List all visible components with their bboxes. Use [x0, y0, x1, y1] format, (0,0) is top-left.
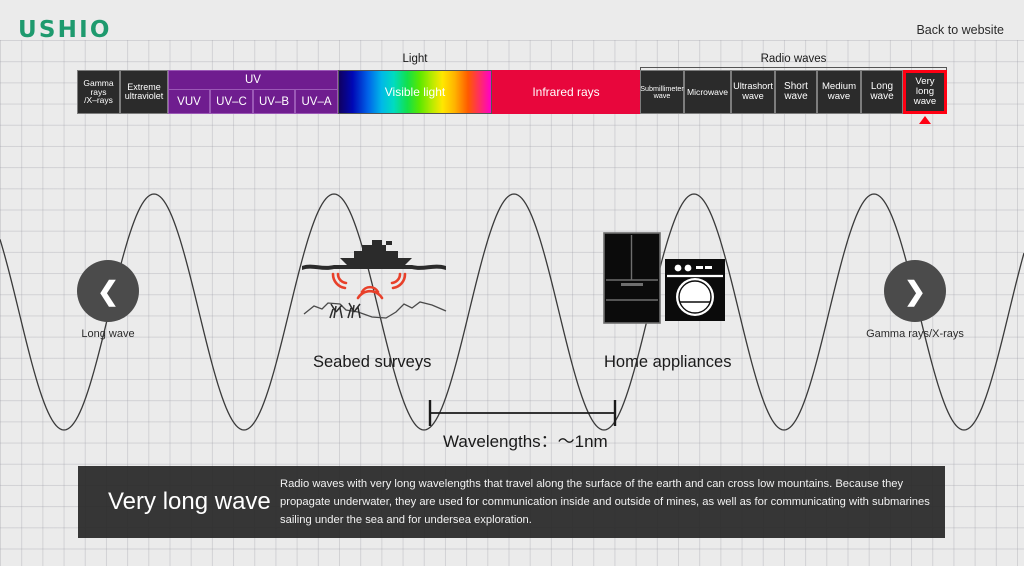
band-extreme-ultraviolet[interactable]: Extremeultraviolet: [120, 70, 168, 114]
band-short-wave[interactable]: Shortwave: [775, 70, 817, 114]
home-appliances-label: Home appliances: [604, 353, 732, 372]
band-long-wave[interactable]: Longwave: [861, 70, 903, 114]
description-panel: Very long wave Radio waves with very lon…: [78, 466, 945, 538]
page-header: USHIO Back to website: [0, 0, 1024, 40]
prev-band-label: Long wave: [47, 328, 169, 340]
chevron-right-icon: ❯: [904, 276, 926, 307]
back-to-website-link[interactable]: Back to website: [916, 23, 1004, 37]
description-body: Radio waves with very long wavelengths t…: [272, 475, 931, 529]
spectrum-bar: Light Radio waves Gammarays/X–rays Extre…: [0, 50, 1024, 122]
band-visible-light[interactable]: Visible light: [338, 70, 492, 114]
description-title: Very long wave: [92, 488, 272, 516]
band-medium-wave[interactable]: Mediumwave: [817, 70, 861, 114]
next-band-button[interactable]: ❯: [884, 260, 946, 322]
band-uv-c[interactable]: UV–C: [210, 89, 253, 114]
band-uv-group[interactable]: UV: [168, 70, 338, 89]
seabed-survey-label: Seabed surveys: [313, 353, 431, 372]
group-label-radio-waves: Radio waves: [640, 53, 947, 65]
band-very-long-wave[interactable]: Verylongwave: [903, 70, 947, 114]
selected-band-marker: [919, 116, 931, 124]
spectrum-band-row: Gammarays/X–rays Extremeultraviolet UV V…: [0, 70, 1024, 114]
ushio-logo: USHIO: [18, 17, 112, 43]
band-gamma-rays[interactable]: Gammarays/X–rays: [77, 70, 120, 114]
band-uv-b[interactable]: UV–B: [253, 89, 295, 114]
wavelength-label: Wavelengths：～1nm: [443, 427, 608, 452]
band-infrared-rays[interactable]: Infrared rays: [492, 70, 640, 114]
band-uv-a[interactable]: UV–A: [295, 89, 338, 114]
band-submillimeter-wave[interactable]: Submillimeterwave: [640, 70, 684, 114]
seabed-survey-illustration: [300, 232, 450, 342]
prev-band-button[interactable]: ❮: [77, 260, 139, 322]
home-appliances-illustration: [603, 232, 726, 334]
band-microwave[interactable]: Microwave: [684, 70, 731, 114]
band-vuv[interactable]: VUV: [168, 89, 210, 114]
band-ultrashort-wave[interactable]: Ultrashortwave: [731, 70, 775, 114]
wavelength-bracket: [425, 398, 625, 428]
next-band-label: Gamma rays/X-rays: [854, 328, 976, 340]
chevron-left-icon: ❮: [97, 276, 119, 307]
group-label-light: Light: [338, 53, 492, 65]
